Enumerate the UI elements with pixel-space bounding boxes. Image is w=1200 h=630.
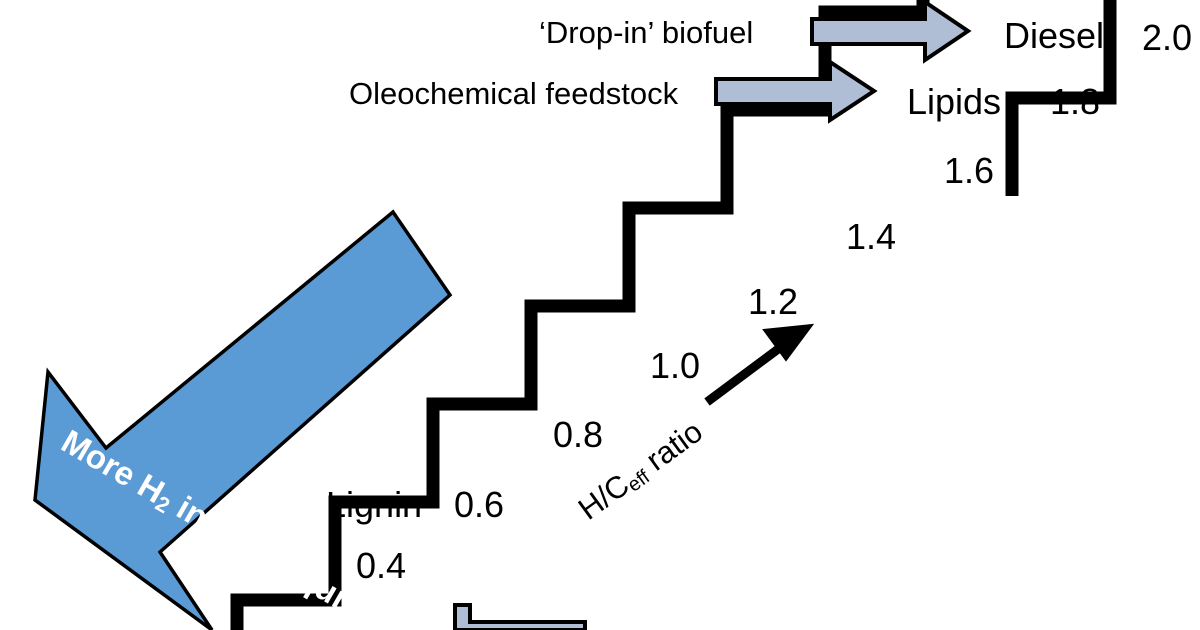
hc-ratio-trend-arrow: [707, 325, 812, 402]
step-value-1.2: 1.2: [748, 284, 798, 320]
diagram-canvas: 0.4 0.6 0.8 1.0 1.2 1.4 1.6 1.8 2.0 Lign…: [0, 0, 1200, 630]
node-label-lipids: Lipids: [907, 84, 1001, 120]
step-value-0.4: 0.4: [356, 548, 406, 584]
step-value-0.8: 0.8: [553, 417, 603, 453]
node-label-diesel: Diesel: [1004, 18, 1104, 54]
step-value-1.0: 1.0: [650, 348, 700, 384]
step-value-0.6: 0.6: [454, 487, 504, 523]
step-value-1.8: 1.8: [1050, 84, 1100, 120]
step-value-1.4: 1.4: [846, 219, 896, 255]
node-label-lignin: Lignin: [326, 487, 422, 523]
flow-label-oleochemical-feedstock: Oleochemical feedstock: [349, 78, 678, 109]
step-value-2.0: 2.0: [1142, 20, 1192, 56]
bottom-left-arrow: [455, 605, 585, 630]
step-value-1.6: 1.6: [944, 153, 994, 189]
flow-label-drop-in-biofuel: ‘Drop-in’ biofuel: [539, 17, 753, 48]
